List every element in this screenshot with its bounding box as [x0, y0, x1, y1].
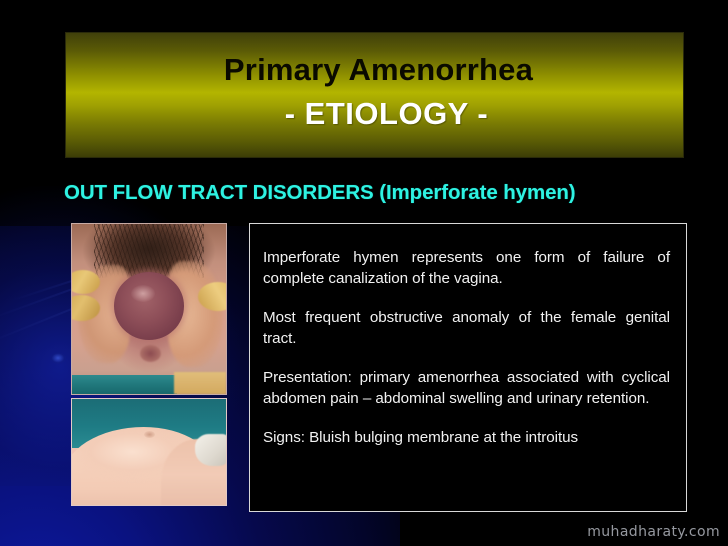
abdominal-swelling-photo	[71, 398, 227, 506]
photo-gloved-finger	[71, 270, 100, 294]
photo-surgical-drape	[72, 375, 177, 394]
photo-bulging-membrane	[114, 272, 185, 340]
photo-gloved-hand	[174, 372, 226, 394]
photo-gloved-finger	[198, 282, 227, 311]
imperforate-hymen-perineal-photo	[71, 223, 227, 395]
photo-introitus	[140, 345, 162, 362]
title-banner: Primary Amenorrhea - ETIOLOGY -	[66, 33, 683, 157]
textbox-paragraph-1: Imperforate hymen represents one form of…	[263, 248, 670, 289]
textbox-paragraph-3: Presentation: primary amenorrhea associa…	[263, 368, 670, 409]
section-heading: OUT FLOW TRACT DISORDERS (Imperforate hy…	[64, 181, 684, 205]
presentation-slide: Primary Amenorrhea - ETIOLOGY - OUT FLOW…	[0, 0, 728, 546]
slide-title-primary: Primary Amenorrhea	[66, 51, 683, 89]
content-textbox: Imperforate hymen represents one form of…	[249, 223, 687, 512]
photo-cloth	[195, 434, 227, 466]
watermark: muhadharaty.com	[587, 524, 720, 540]
background-sparkle-icon	[50, 352, 66, 364]
slide-title-secondary: - ETIOLOGY -	[66, 95, 683, 133]
textbox-paragraph-4: Signs: Bluish bulging membrane at the in…	[263, 428, 670, 449]
textbox-paragraph-2: Most frequent obstructive anomaly of the…	[263, 308, 670, 349]
